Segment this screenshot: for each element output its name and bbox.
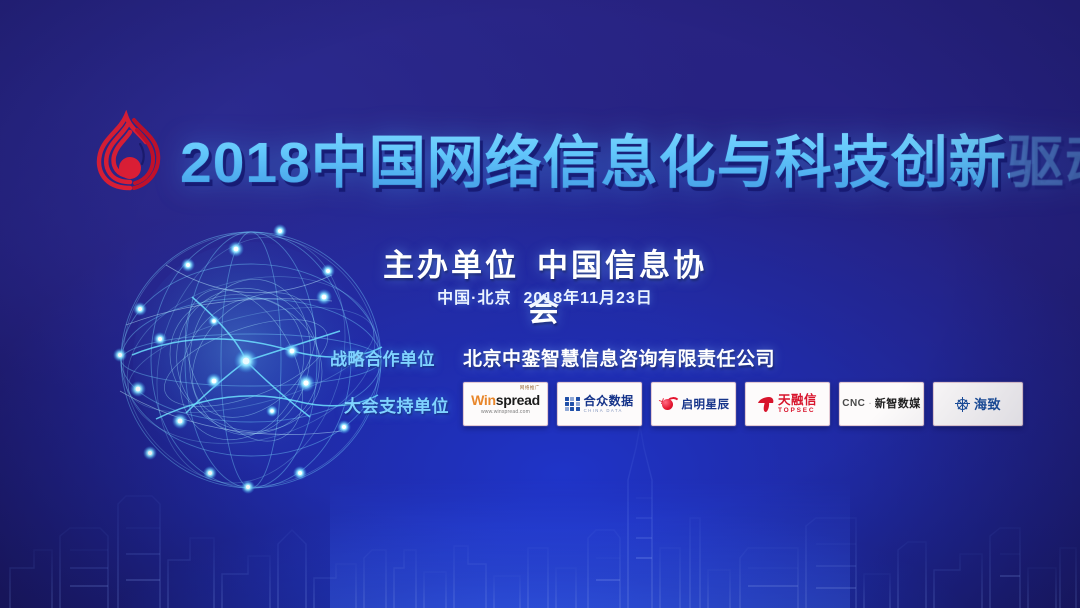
conference-banner: 2018中国网络信息化与科技创新驱动大会 主办单位中国信息协会 中国·北京201… xyxy=(0,0,1080,608)
vignette-overlay xyxy=(0,0,1080,608)
